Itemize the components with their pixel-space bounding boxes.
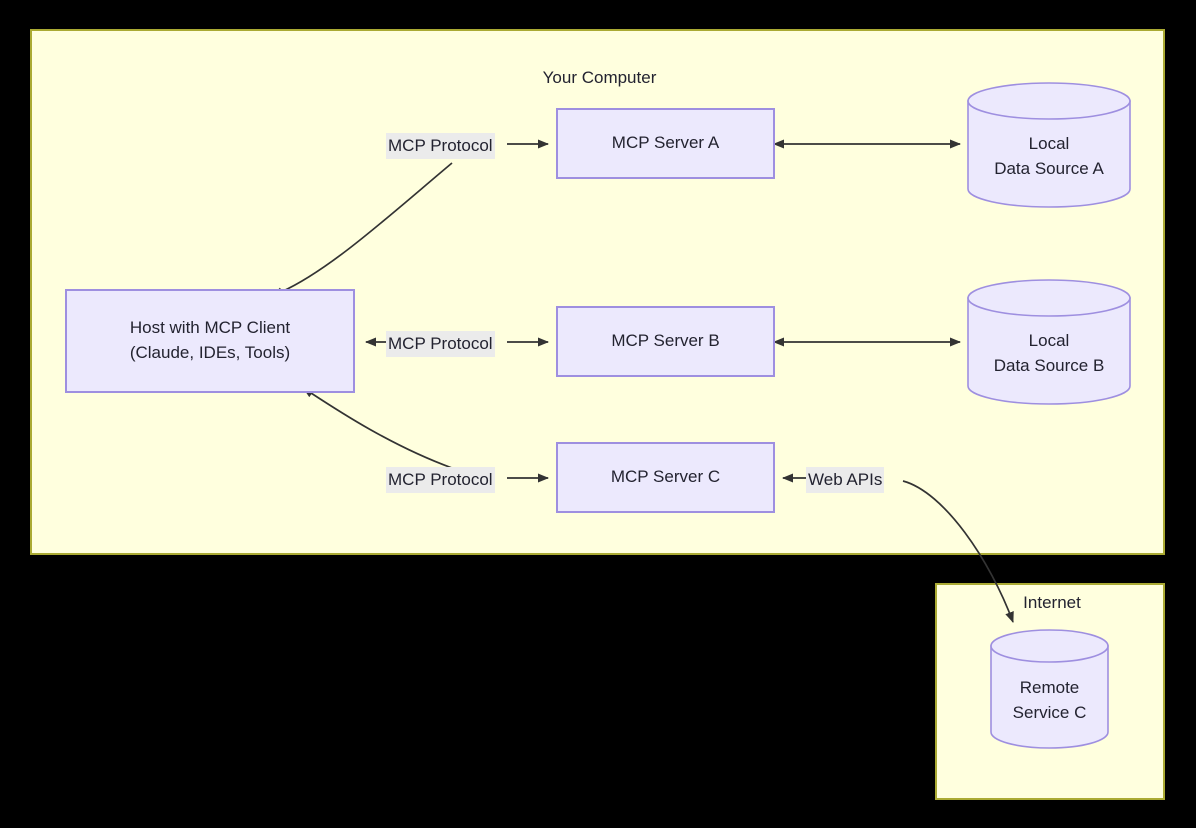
cylinder-shape-icon [967, 279, 1131, 405]
edge-label-mcp-protocol-a: MCP Protocol [386, 133, 495, 159]
cylinder-shape-icon [990, 629, 1109, 750]
node-host-line2: (Claude, IDEs, Tools) [130, 341, 290, 366]
node-local-data-source-a[interactable]: Local Data Source A [967, 82, 1131, 208]
cylinder-shape-icon [967, 82, 1131, 208]
node-host-line1: Host with MCP Client [130, 316, 290, 341]
node-mcp-server-a[interactable]: MCP Server A [556, 108, 775, 179]
node-mcp-server-b[interactable]: MCP Server B [556, 306, 775, 377]
node-mcp-server-b-label: MCP Server B [611, 329, 719, 354]
panel-internet-title: Internet [937, 593, 1167, 613]
edge-label-web-apis: Web APIs [806, 467, 884, 493]
node-remote-service-c[interactable]: Remote Service C [990, 629, 1109, 750]
edge-label-mcp-protocol-c: MCP Protocol [386, 467, 495, 493]
node-mcp-server-c[interactable]: MCP Server C [556, 442, 775, 513]
node-host-with-mcp-client[interactable]: Host with MCP Client (Claude, IDEs, Tool… [65, 289, 355, 393]
node-mcp-server-c-label: MCP Server C [611, 465, 720, 490]
mcp-architecture-diagram: Your Computer Internet [0, 0, 1196, 828]
edge-label-mcp-protocol-b: MCP Protocol [386, 331, 495, 357]
node-mcp-server-a-label: MCP Server A [612, 131, 719, 156]
node-local-data-source-b[interactable]: Local Data Source B [967, 279, 1131, 405]
